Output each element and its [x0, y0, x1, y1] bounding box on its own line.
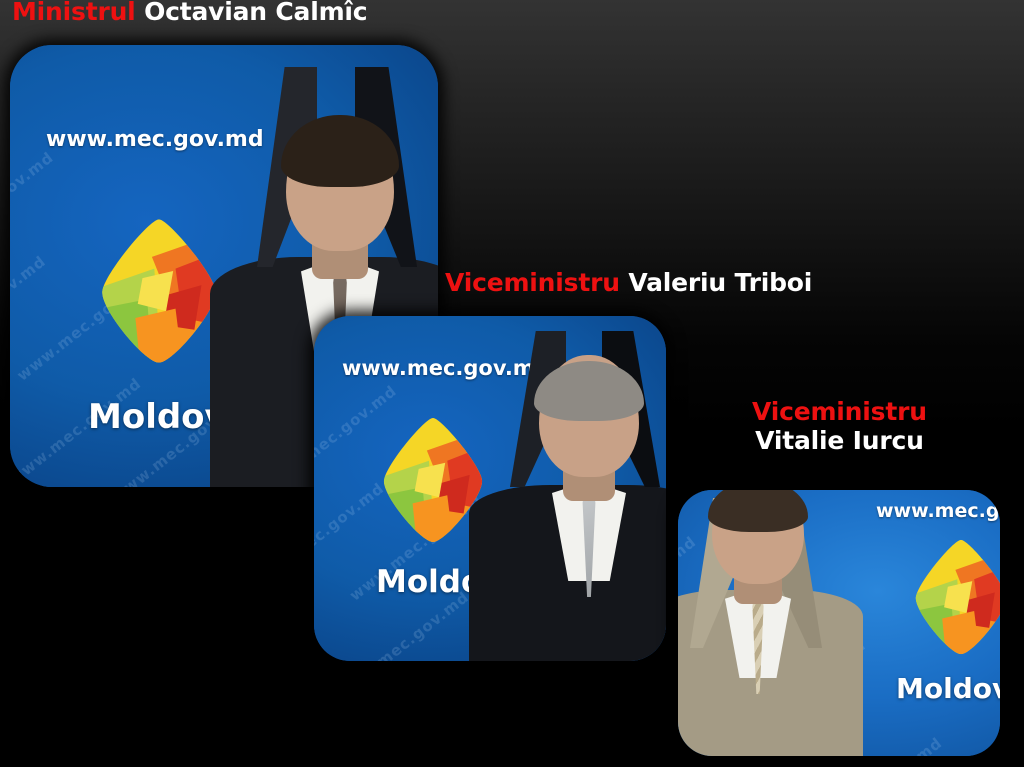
caption-ministrul-octavian-calmic: Ministrul Octavian Calmîc — [12, 0, 367, 27]
person-portrait-valeriu-triboi — [464, 331, 666, 661]
slide-canvas: www.mec.gov.md www.mec.gov.md www.mec.go… — [0, 0, 1024, 767]
caption-person-name: Valeriu Triboi — [628, 268, 812, 297]
moldova-rhombus-icon — [914, 538, 1000, 656]
caption-role-label: Viceministru — [752, 398, 927, 427]
caption-person-name: Vitalie Iurcu — [752, 427, 927, 456]
caption-viceministru-valeriu-triboi: Viceministru Valeriu Triboi — [445, 269, 812, 298]
brand-word-text: Moldova — [896, 672, 1000, 705]
caption-role-label: Ministrul — [12, 0, 136, 26]
moldova-rhombus-icon — [100, 217, 218, 365]
hair — [708, 490, 808, 532]
photo-card-valeriu-triboi[interactable]: www.mec.gov.md www.mec.gov.md www.mec.go… — [314, 316, 666, 661]
site-url-text: www.mec.g — [876, 500, 999, 522]
caption-person-name: Octavian Calmîc — [144, 0, 367, 26]
photo-card-vitalie-iurcu[interactable]: www.mec.gov.md www.mec.gov.md www.mec.go… — [678, 490, 1000, 756]
person-portrait-vitalie-iurcu — [678, 498, 866, 756]
caption-role-label: Viceministru — [445, 268, 620, 297]
caption-viceministru-vitalie-iurcu: Viceministru Vitalie Iurcu — [752, 398, 927, 455]
caption-name-label — [136, 0, 145, 26]
